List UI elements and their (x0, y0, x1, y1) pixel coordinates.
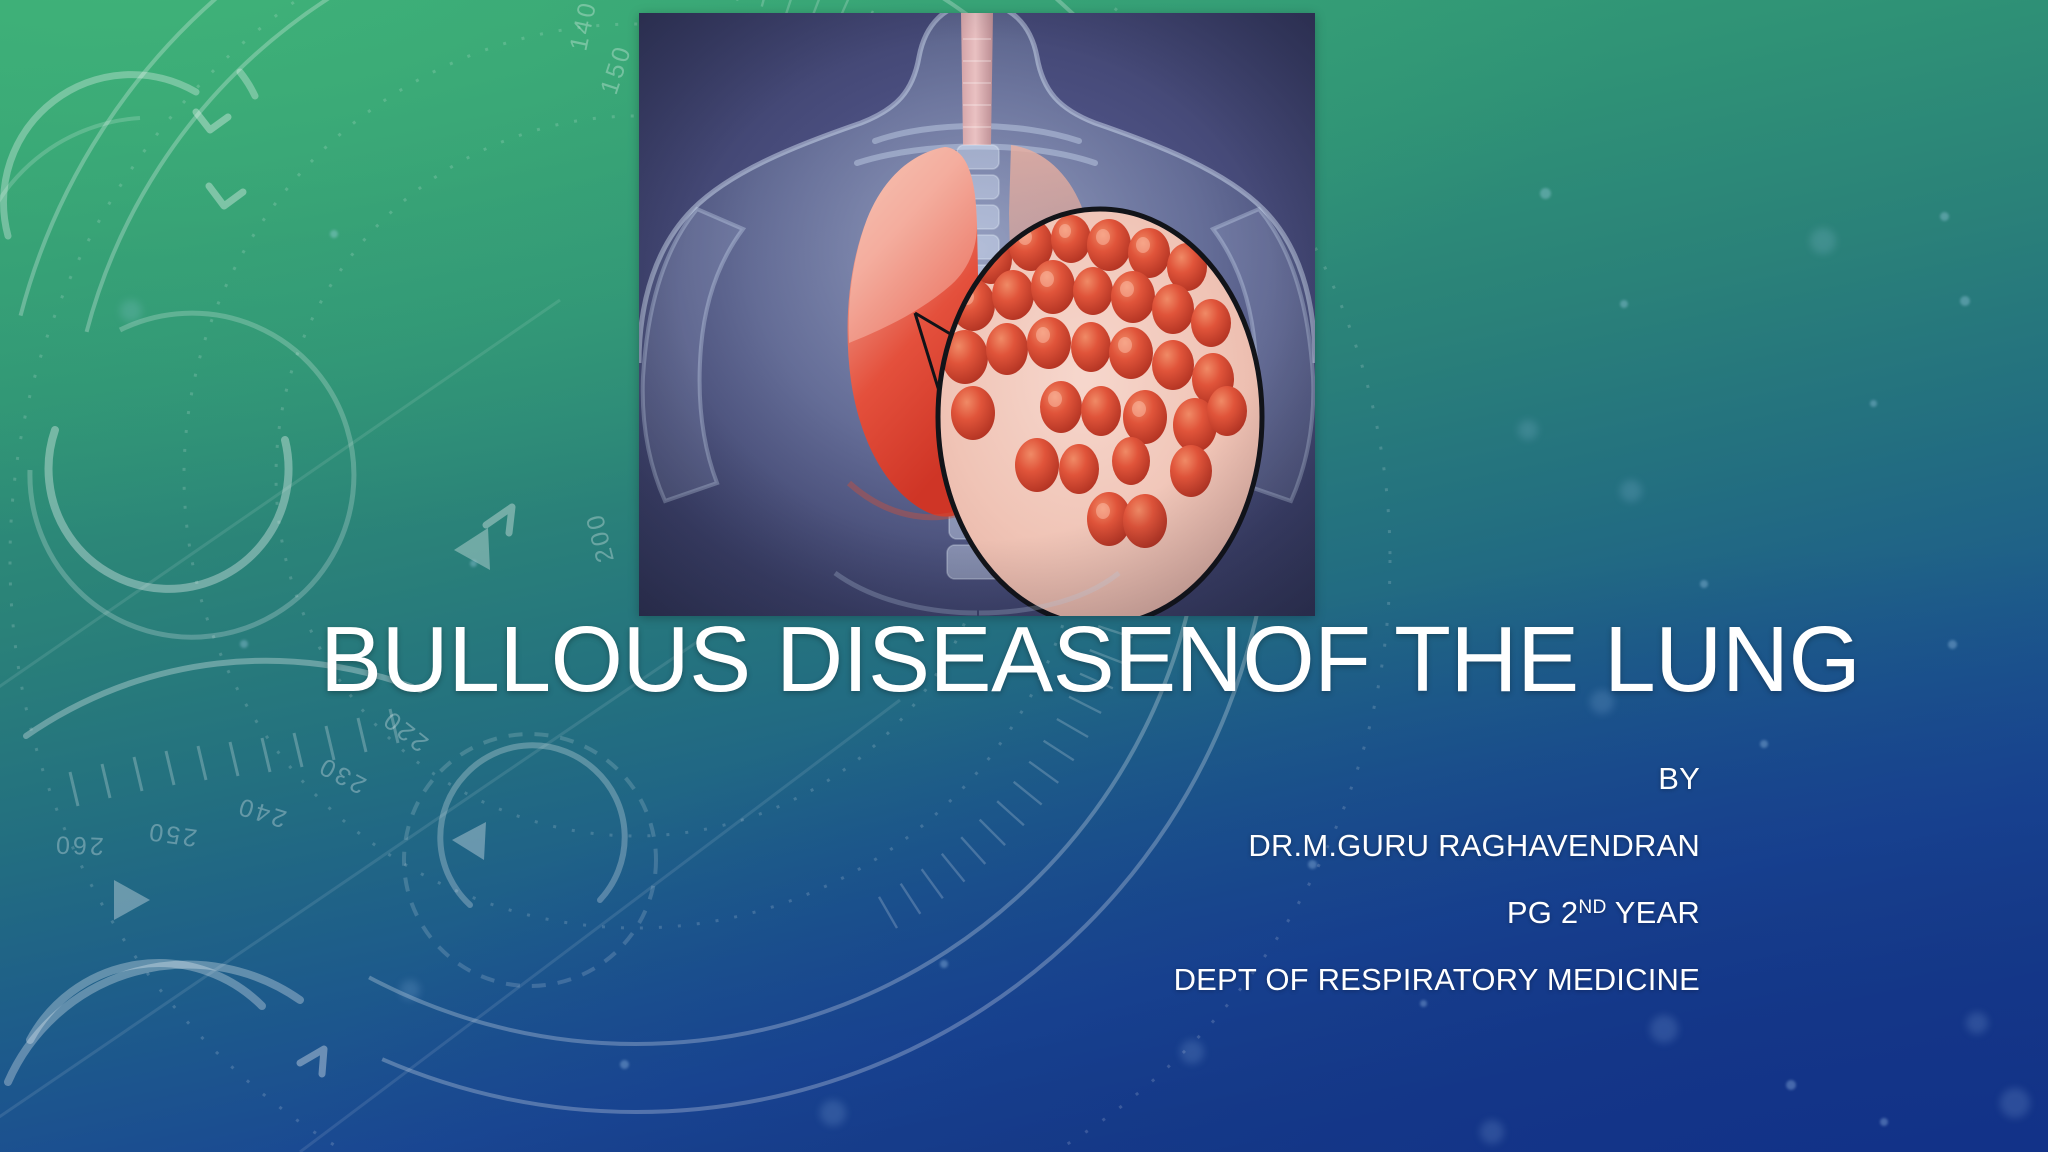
subtitle-line-by: BY (700, 745, 1700, 812)
subtitle-line-year: PG 2ND YEAR (700, 879, 1700, 946)
page-title: BULLOUS DISEASENOF THE LUNG (320, 612, 1710, 707)
year-text-before: PG 2 (1507, 895, 1578, 930)
image-vignette (639, 13, 1315, 616)
year-ordinal-superscript: ND (1578, 897, 1606, 918)
subtitle-block: BY DR.M.GURU RAGHAVENDRAN PG 2ND YEAR DE… (700, 745, 1700, 1013)
lung-anatomy-image (639, 13, 1315, 616)
subtitle-line-author: DR.M.GURU RAGHAVENDRAN (700, 812, 1700, 879)
year-text-after: YEAR (1607, 895, 1700, 930)
subtitle-line-department: DEPT OF RESPIRATORY MEDICINE (700, 946, 1700, 1013)
presentation-slide: 140 150 200 220 230 240 250 260 (0, 0, 2048, 1152)
